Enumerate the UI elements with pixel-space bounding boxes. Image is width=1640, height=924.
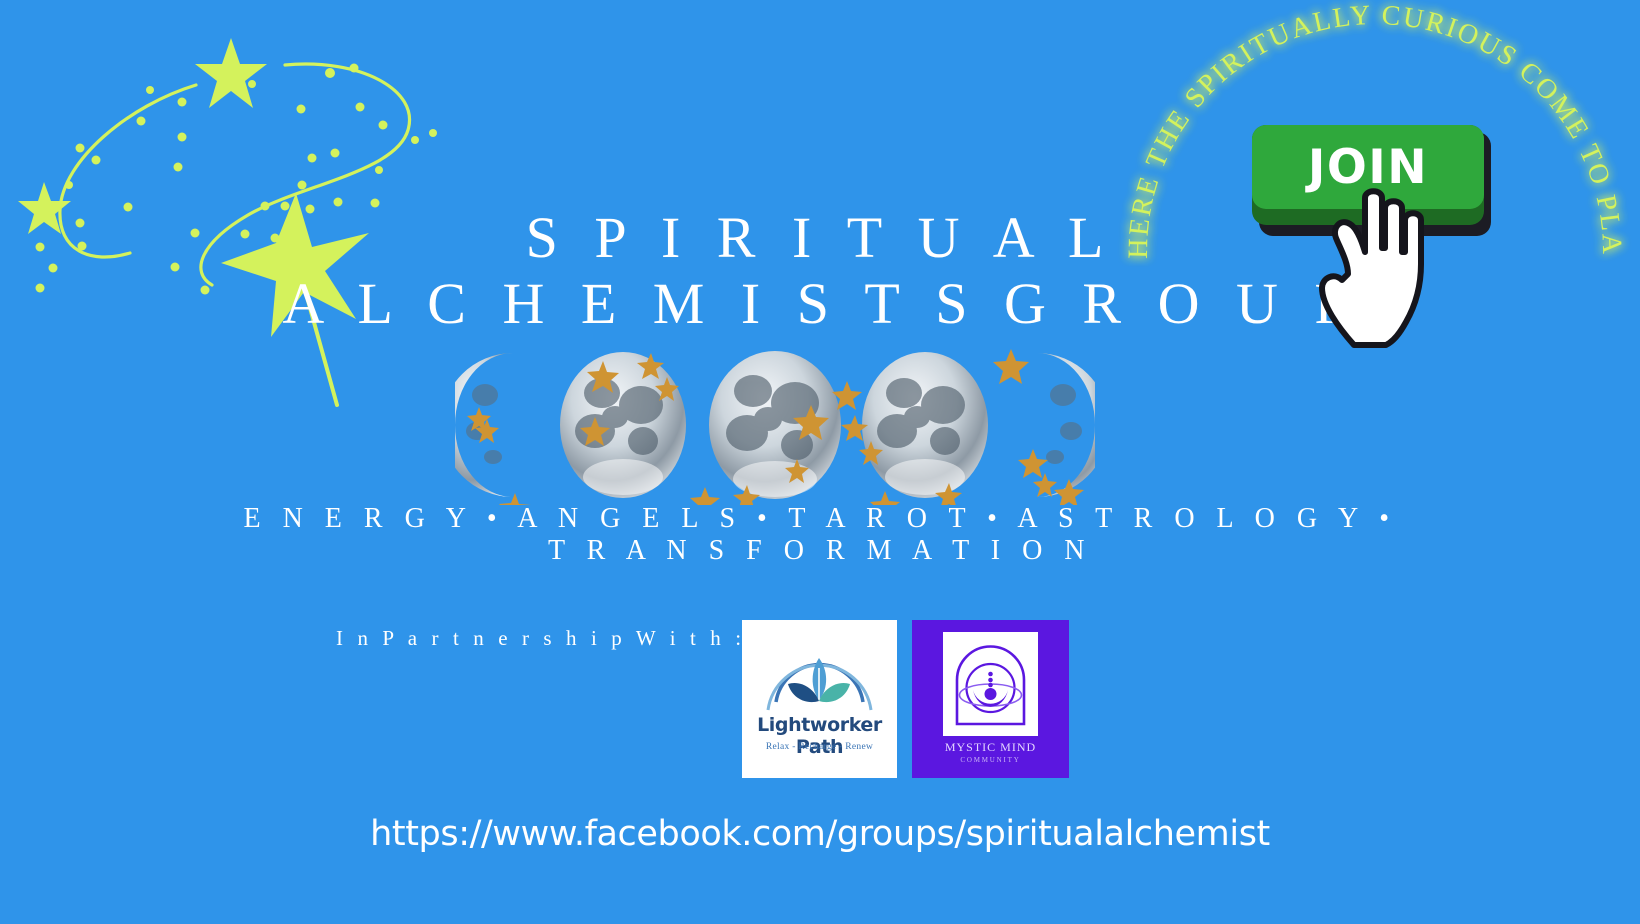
- partner-logo-mystic-mind[interactable]: MYSTIC MIND COMMUNITY: [912, 620, 1069, 778]
- partnership-label: I n P a r t n e r s h i p W i t h :: [336, 626, 746, 651]
- lightworker-tagline: Relax - Recharge - Renew: [742, 742, 897, 752]
- mystic-mind-name: MYSTIC MIND: [912, 740, 1069, 755]
- facebook-group-url[interactable]: https://www.facebook.com/groups/spiritua…: [0, 814, 1640, 854]
- partner-logo-lightworker-path[interactable]: Lightworker Path Relax - Recharge - Rene…: [742, 620, 897, 778]
- mystic-mind-emblem-icon: [943, 632, 1038, 736]
- services-tagline: E N E R G Y • A N G E L S • T A R O T • …: [0, 503, 1640, 567]
- wand-star-icon: [221, 193, 369, 337]
- star-icon: [18, 38, 267, 234]
- moon-phases-decoration: [455, 345, 1095, 505]
- magic-wand-decoration: [0, 10, 460, 440]
- lightworker-leaf-icon: [742, 630, 897, 720]
- moon-gibbous-right: [862, 352, 988, 498]
- moon-gibbous-left: [560, 352, 686, 498]
- poster-canvas: S P I R I T U A L A L C H E M I S T S G …: [0, 0, 1640, 924]
- tagline-line-1: E N E R G Y • A N G E L S • T A R O T • …: [243, 503, 1396, 534]
- pointing-hand-cursor-icon: [1302, 186, 1447, 351]
- tagline-line-2: T R A N S F O R M A T I O N: [0, 535, 1640, 567]
- mystic-mind-tagline: COMMUNITY: [912, 756, 1069, 764]
- swirl-icon: [60, 64, 410, 285]
